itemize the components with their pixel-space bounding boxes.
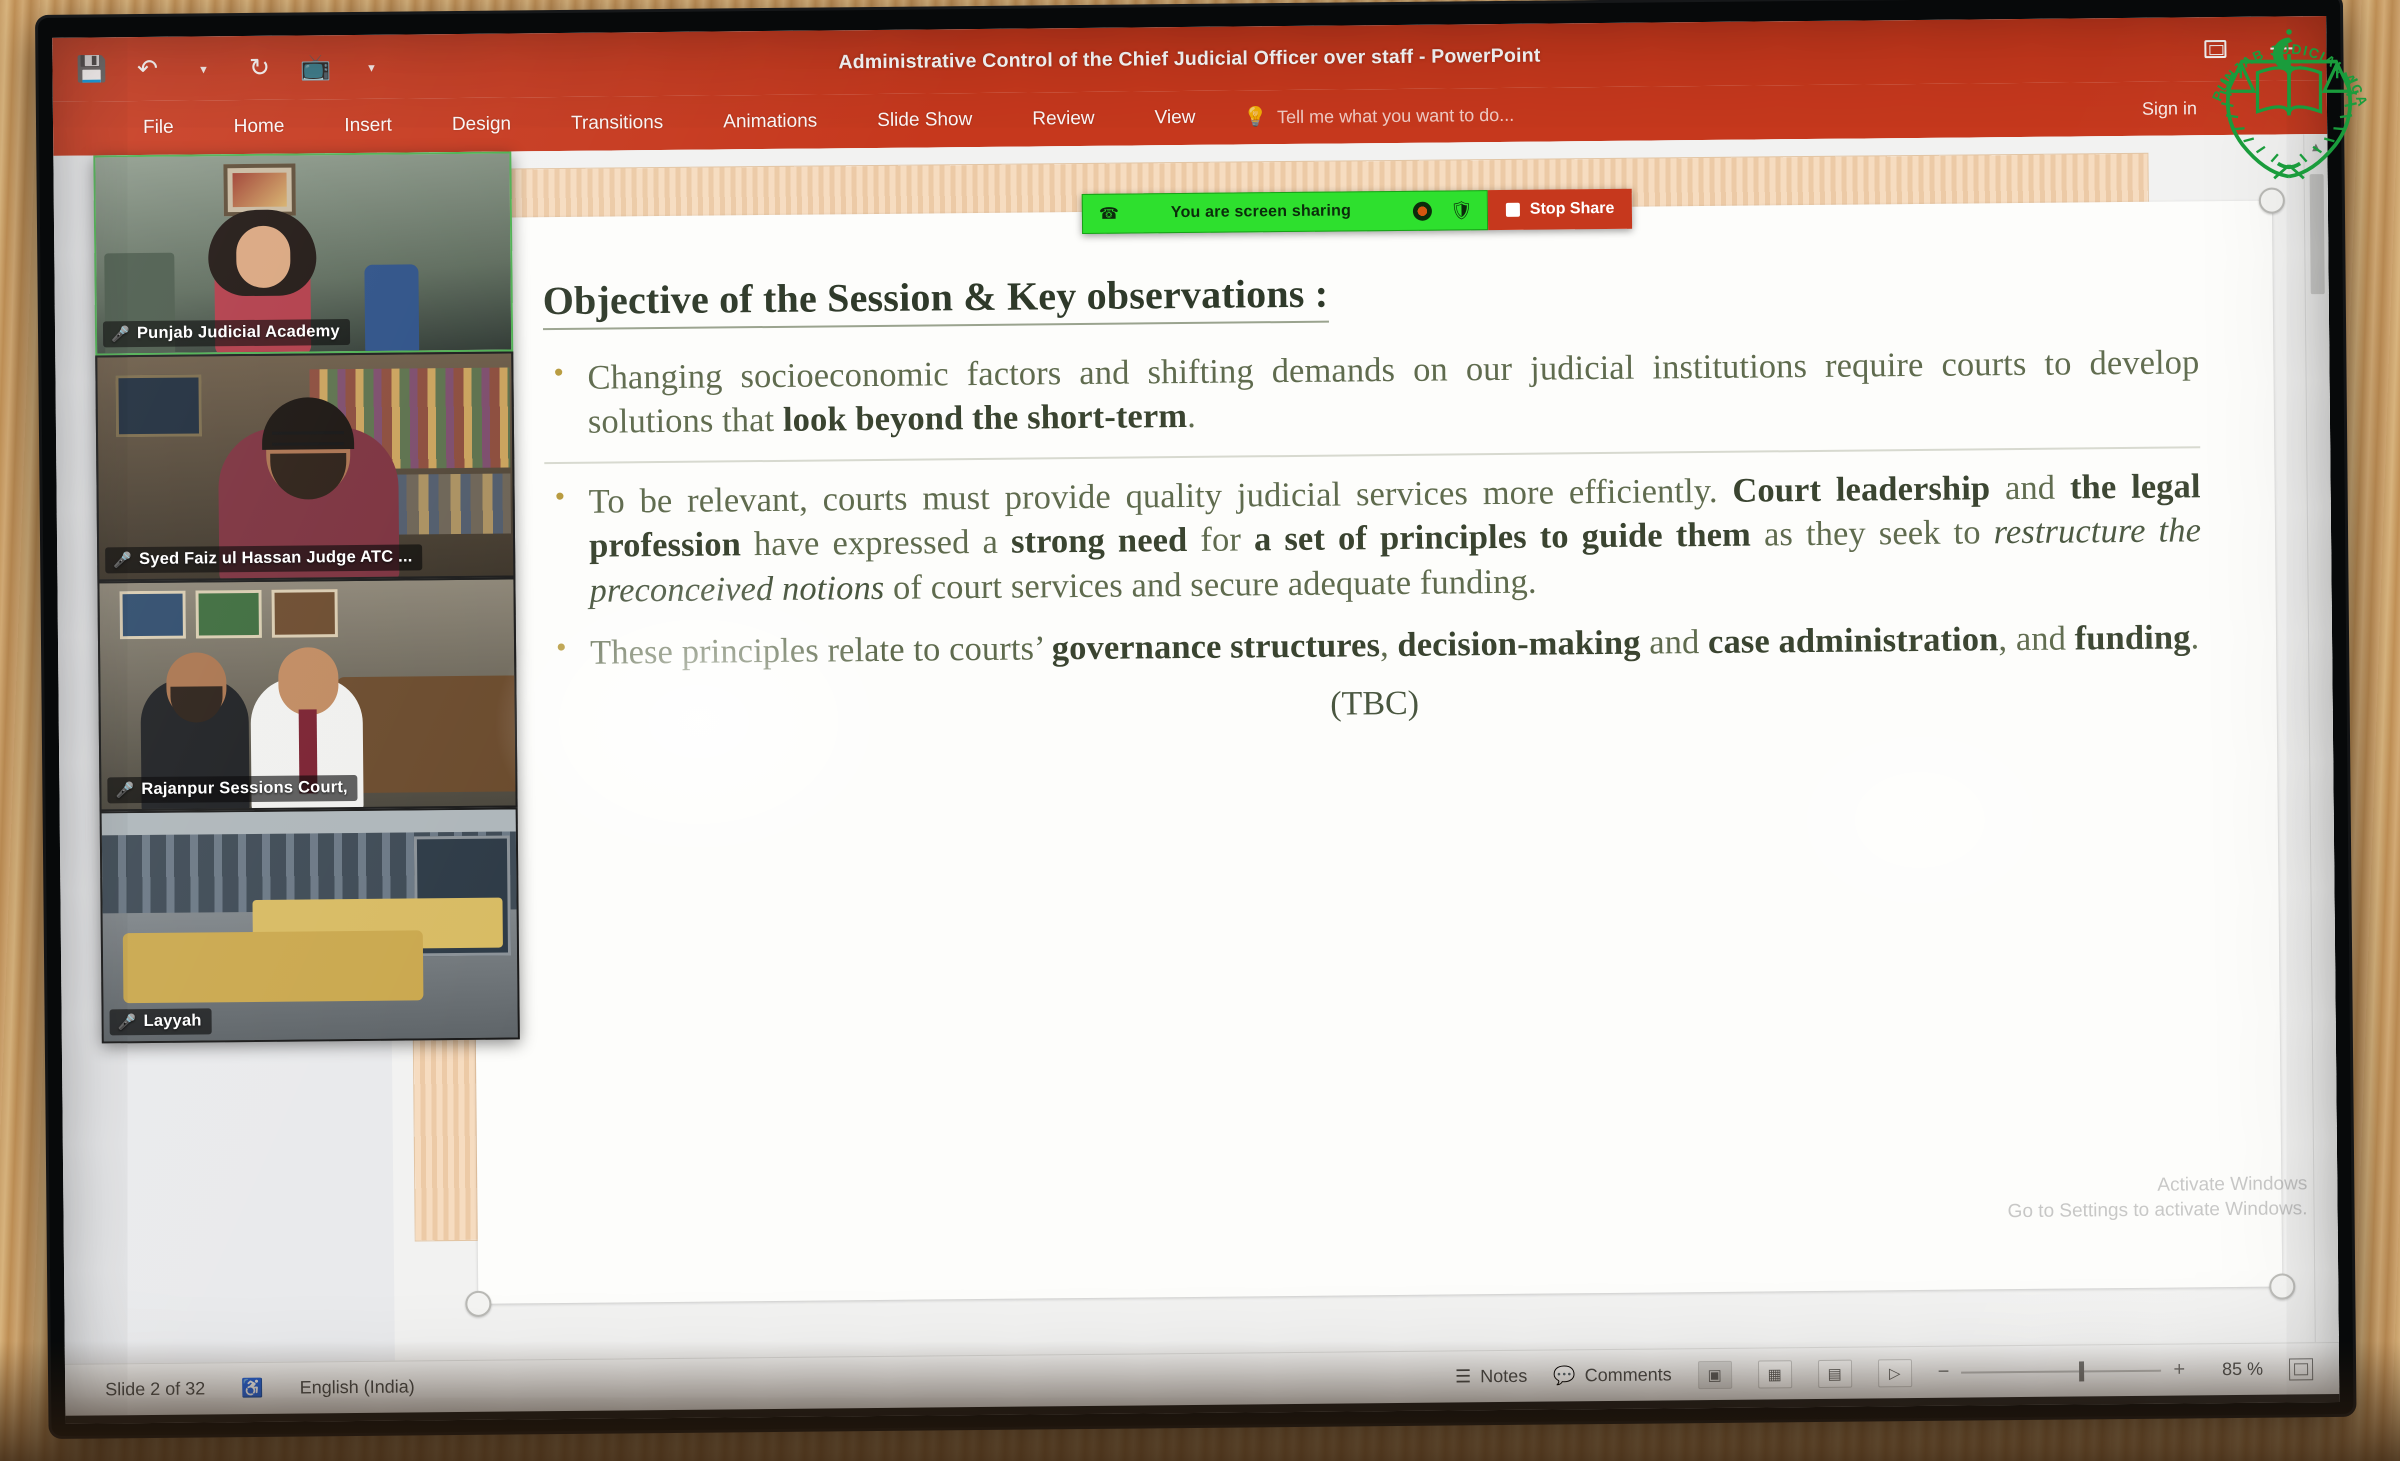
file-explorer-icon[interactable] [816,1421,866,1424]
svg-text:PUNJAB JUDICIAL ACADEMY: PUNJAB JUDICIAL ACADEMY [2196,6,2372,109]
bullet-item: These principles relate to courts’ gover… [546,615,2202,675]
wall-frame-decor [115,374,202,437]
clock-time: 11:16 am [2182,1412,2267,1424]
participant-name-badge: 🎤 Rajanpur Sessions Court, [107,775,358,803]
tab-animations[interactable]: Animations [693,110,847,133]
chair-decor [364,264,419,355]
zoom-icon[interactable]: Z [900,1420,950,1423]
zoom-percent[interactable]: 85 % [2211,1359,2263,1380]
participant-name-badge: 🎤 Syed Faiz ul Hassan Judge ATC ... [105,544,423,573]
slide-handle-top-right[interactable] [2259,187,2285,213]
save-icon[interactable]: 💾 [78,56,104,82]
participant-name-badge: 🎤 Layyah [110,1008,212,1035]
zoom-slider[interactable]: − + [1938,1358,2186,1383]
wall-frame-decor [223,164,295,217]
table-decor [123,930,424,1003]
language-indicator[interactable]: ENG [2117,1423,2158,1424]
person-glasses [272,431,344,446]
zoom-participant-strip: 🎤 Punjab Judicial Academy [93,151,520,1043]
zoom-track[interactable] [1961,1369,2161,1373]
participant-name: Rajanpur Sessions Court, [141,778,348,799]
participant-name: Syed Faiz ul Hassan Judge ATC ... [139,547,413,569]
powerpoint-icon[interactable]: P [984,1420,1034,1424]
start-presentation-icon[interactable]: 📺 [302,54,328,80]
stop-square-icon [1506,203,1520,217]
notes-label: Notes [1480,1366,1527,1387]
edge-icon[interactable] [732,1422,782,1424]
shield-icon[interactable]: 🛡 [1450,200,1473,221]
muted-microphone-icon: 🎤 [113,551,132,569]
comments-button[interactable]: 💬 Comments [1553,1364,1672,1386]
slide-counter[interactable]: Slide 2 of 32 [105,1378,205,1400]
redo-icon[interactable]: ↻ [246,55,272,81]
tab-home[interactable]: Home [204,115,315,138]
notes-button[interactable]: ☰ Notes [1455,1366,1527,1388]
tab-slide-show[interactable]: Slide Show [847,109,1002,132]
slide-title: Objective of the Session & Key observati… [543,270,1329,331]
comment-icon: 💬 [1553,1365,1576,1386]
person-face [236,226,291,289]
sharing-status-group: ☎ You are screen sharing 🛡 [1082,190,1488,234]
tab-transitions[interactable]: Transitions [541,112,693,135]
zoom-knob[interactable] [2079,1361,2084,1381]
punjab-judicial-academy-logo: PUNJAB JUDICIAL ACADEMY [2196,6,2382,182]
bullet-item: To be relevant, courts must provide qual… [544,465,2201,613]
person-face [278,647,339,716]
tab-view[interactable]: View [1125,107,1226,130]
watermark-line-2: Go to Settings to activate Windows. [2008,1197,2308,1226]
windows-activation-watermark: Activate Windows Go to Settings to activ… [2007,1171,2307,1225]
notes-icon: ☰ [1455,1366,1471,1387]
participant-name: Layyah [143,1011,201,1031]
microphone-icon[interactable]: 🎙 [2069,1422,2093,1423]
participant-tile[interactable]: 🎤 Rajanpur Sessions Court, [97,577,517,811]
slide-canvas-area: Objective of the Session & Key observati… [383,134,2339,1361]
phone-icon: ☎ [1099,204,1119,224]
customize-quick-access-icon[interactable]: ▾ [358,54,384,80]
participant-tile[interactable]: 🎤 Syed Faiz ul Hassan Judge ATC ... [95,351,515,581]
language-indicator[interactable]: English (India) [300,1376,415,1398]
wall-frame-decor [196,590,262,639]
window-title: Administrative Control of the Chief Judi… [52,37,2326,82]
slide-handle-bottom-right[interactable] [2269,1273,2295,1299]
tab-review[interactable]: Review [1002,108,1125,131]
watermark-line-1: Activate Windows [2007,1171,2307,1200]
notification-center-icon[interactable] [2292,1420,2318,1424]
television-display: 💾 ↶ ▾ ↻ 📺 ▾ Administrative Control of th… [38,0,2354,1436]
stop-share-label: Stop Share [1530,200,1615,219]
comments-label: Comments [1585,1364,1672,1386]
screen-share-banner: ☎ You are screen sharing 🛡 Stop Share [1082,189,1633,234]
status-left-group: Slide 2 of 32 ♿ English (India) [65,1376,415,1400]
quick-access-toolbar: 💾 ↶ ▾ ↻ 📺 ▾ [52,54,384,83]
muted-microphone-icon: 🎤 [118,1013,137,1031]
slide[interactable]: Objective of the Session & Key observati… [468,201,2282,1304]
bullet-divider [544,447,2200,465]
fit-slide-to-window-icon[interactable] [2289,1358,2313,1380]
editing-area: Objective of the Session & Key observati… [53,134,2338,1364]
zoom-out-icon[interactable]: − [1938,1361,1950,1384]
scrollbar-thumb[interactable] [2310,174,2325,294]
taskbar-app-buttons: Z P [732,1420,1034,1424]
vertical-scrollbar[interactable]: ▲ [2303,134,2339,1342]
tab-file[interactable]: File [113,116,204,139]
stop-share-button[interactable]: Stop Share [1488,189,1633,230]
start-button[interactable] [65,1415,144,1424]
participant-tile[interactable]: 🎤 Punjab Judicial Academy [93,151,513,355]
lightbulb-icon: 💡 [1243,105,1267,129]
slide-footer-note: (TBC) [547,677,2203,731]
system-tray: 28°C Smoke ^ 🖥 ⚙ 🔊 🎙 ENG 11:16 am 10/10/… [1716,1412,2339,1424]
slide-handle-bottom-left[interactable] [465,1291,491,1317]
tab-insert[interactable]: Insert [314,114,422,137]
tell-me-label: Tell me what you want to do... [1277,104,1514,127]
tell-me-search[interactable]: 💡 Tell me what you want to do... [1243,103,1514,130]
speaker-icon[interactable]: 🔊 [2022,1423,2046,1424]
sharing-status-text: You are screen sharing [1137,202,1395,222]
screen-content: 💾 ↶ ▾ ↻ 📺 ▾ Administrative Control of th… [52,16,2339,1424]
zoom-in-icon[interactable]: + [2173,1358,2185,1381]
wall-frame-decor [120,591,186,640]
participant-tile[interactable]: 🎤 Layyah [100,807,520,1043]
participant-name: Punjab Judicial Academy [137,322,340,343]
muted-microphone-icon: 🎤 [115,781,134,799]
muted-microphone-icon: 🎤 [111,325,130,343]
slide-bullet-list: Changing socioeconomic factors and shift… [543,340,2202,675]
recording-indicator-icon[interactable] [1413,201,1432,220]
tab-design[interactable]: Design [422,113,541,136]
accessibility-icon[interactable]: ♿ [241,1378,264,1399]
reading-view-button[interactable]: ▤ [1818,1359,1852,1387]
undo-icon[interactable]: ↶ [134,56,160,82]
normal-view-button[interactable]: ▣ [1698,1360,1732,1388]
bullet-item: Changing socioeconomic factors and shift… [543,340,2200,444]
taskbar-clock[interactable]: 11:16 am 10/10/2023 [2182,1412,2267,1424]
photograph-of-tv-screen: PUNJAB JUDICIAL ACADEMY 💾 [0,0,2400,1461]
slide-show-view-button[interactable]: ▷ [1878,1359,1912,1387]
weather-widget[interactable]: 28°C Smoke [1716,1422,1875,1423]
participant-name-badge: 🎤 Punjab Judicial Academy [103,319,350,347]
taskbar-search-input[interactable]: 🔍 Type here to search [148,1420,669,1424]
wall-frame-decor [271,589,337,638]
slide-sorter-view-button[interactable]: ▦ [1758,1360,1792,1388]
status-right-group: ☰ Notes 💬 Comments ▣ ▦ ▤ ▷ − + [1455,1354,2339,1390]
undo-dropdown-icon[interactable]: ▾ [190,55,216,81]
